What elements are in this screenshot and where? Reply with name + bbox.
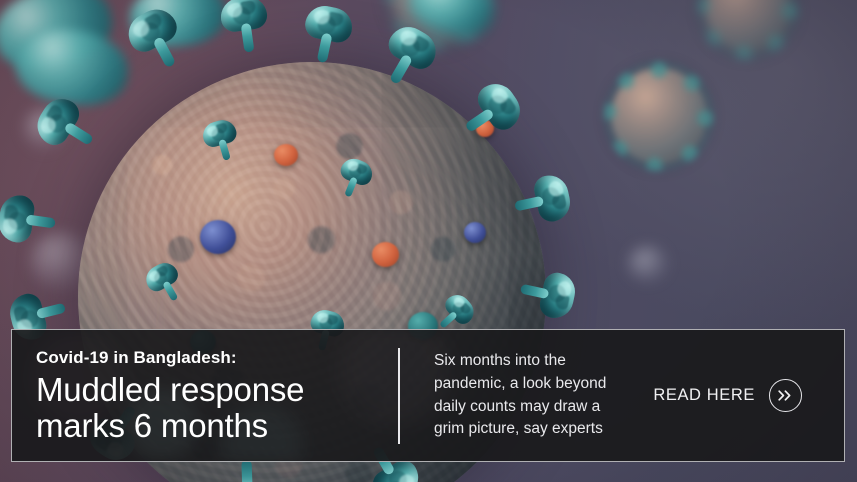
banner-description: Six months into the pandemic, a look bey… [434, 350, 640, 441]
story-banner[interactable]: Covid-19 in Bangladesh: Muddled response… [11, 329, 845, 462]
description-column: Six months into the pandemic, a look bey… [400, 350, 640, 441]
banner-kicker: Covid-19 in Bangladesh: [36, 348, 386, 368]
read-here-label: READ HERE [653, 386, 755, 405]
banner-headline: Muddled response marks 6 months [36, 372, 386, 443]
headline-column: Covid-19 in Bangladesh: Muddled response… [12, 348, 386, 443]
promo-banner-image: Covid-19 in Bangladesh: Muddled response… [0, 0, 857, 482]
double-chevron-right-icon[interactable] [769, 379, 802, 412]
read-here-button[interactable]: READ HERE [653, 379, 802, 412]
